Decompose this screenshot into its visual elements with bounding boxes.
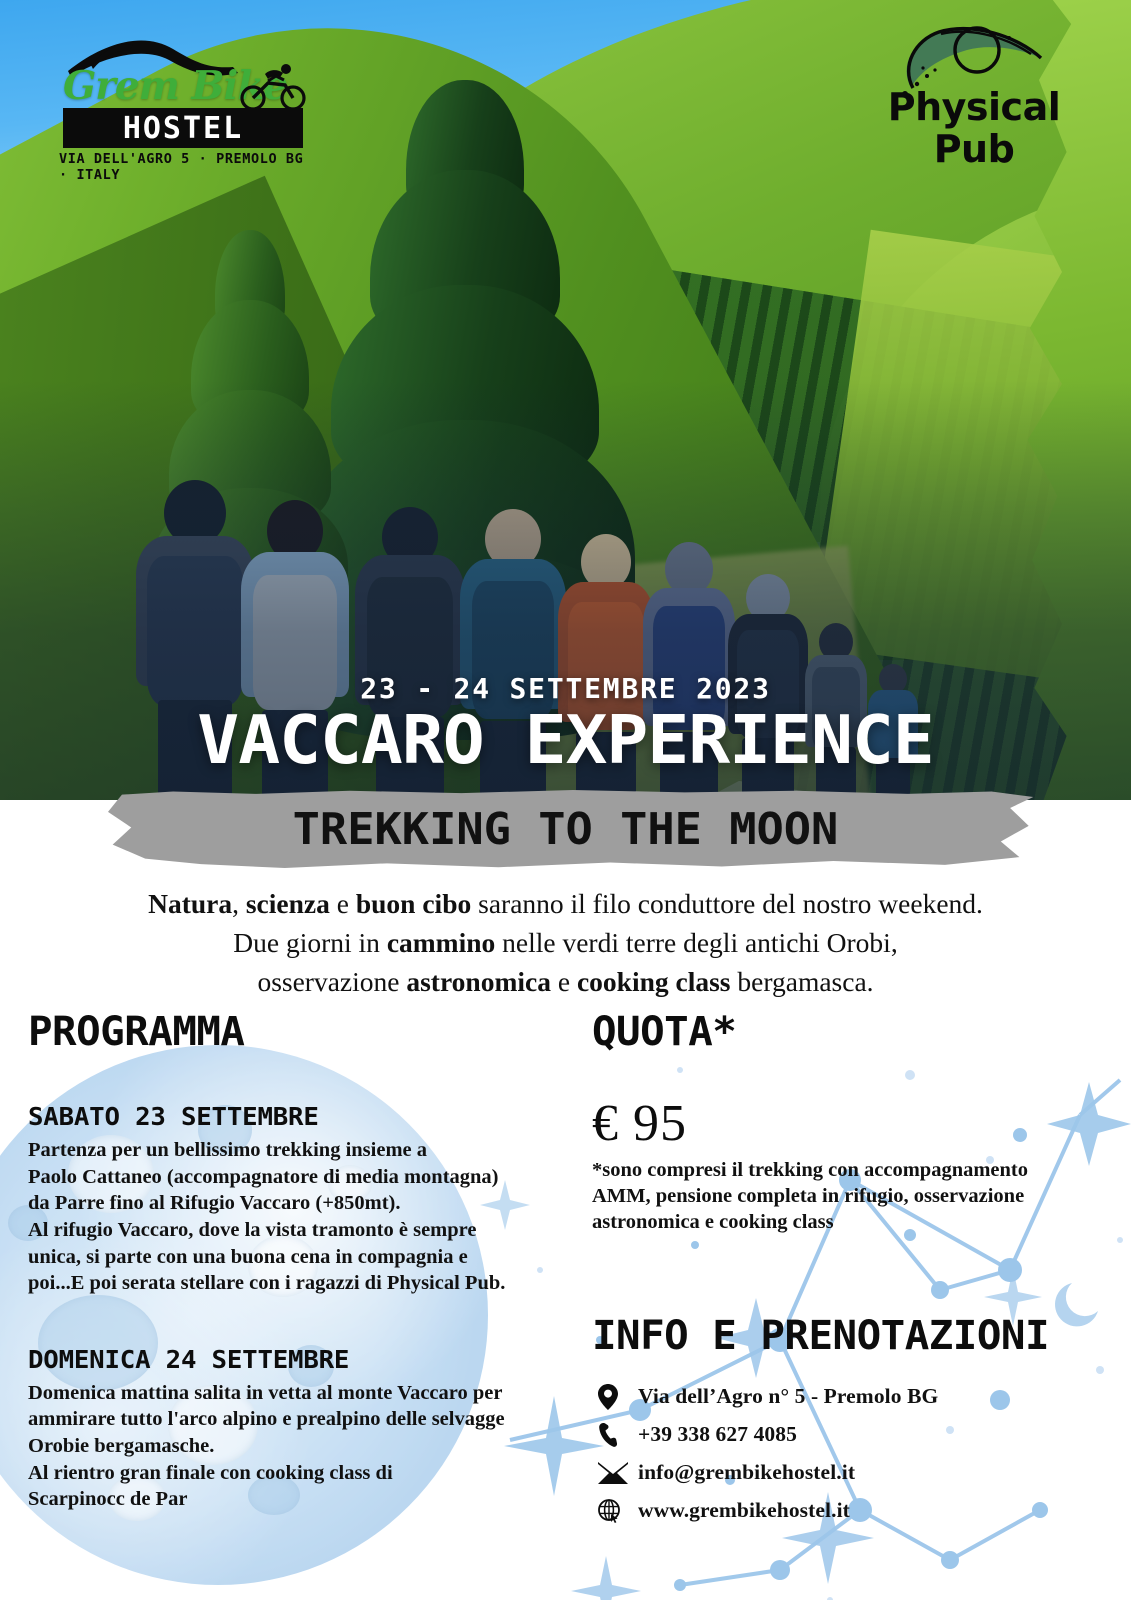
- price-note: *sono compresi il trekking con accompagn…: [592, 1157, 1102, 1236]
- info-block: INFO E PRENOTAZIONI Via dell’Agro n° 5 -…: [592, 1316, 1102, 1530]
- contact-row-phone: +39 338 627 4085: [592, 1416, 1102, 1454]
- intro-bold-buoncibo: buon cibo: [356, 888, 471, 919]
- programma-heading: PROGRAMMA: [28, 1012, 558, 1052]
- logo-address: VIA DELL'AGRO 5 · PREMOLO BG · ITALY: [59, 151, 308, 183]
- day-block-sunday: DOMENICA 24 SETTEMBRE Domenica mattina s…: [28, 1345, 548, 1513]
- quota-heading: QUOTA*: [592, 1012, 1112, 1052]
- contact-website-text[interactable]: www.grembikehostel.it: [638, 1498, 850, 1523]
- physical-pub-logo: Physical Pub: [869, 22, 1079, 162]
- intro-head-2: Due giorni in: [233, 927, 387, 958]
- intro-sep-3: e: [551, 966, 577, 997]
- intro-tail-3: bergamasca.: [731, 966, 874, 997]
- intro-head-3: osservazione: [257, 966, 406, 997]
- cyclist-icon: [238, 59, 308, 111]
- intro-bold-cookingclass: cooking class: [577, 966, 731, 997]
- intro-sep-2: e: [330, 888, 356, 919]
- contact-row-website: www.grembikehostel.it: [592, 1492, 1102, 1530]
- envelope-icon: [592, 1462, 638, 1484]
- contact-email-text[interactable]: info@grembikehostel.it: [638, 1460, 855, 1485]
- contact-address-text[interactable]: Via dell’Agro n° 5 - Premolo BG: [638, 1384, 938, 1409]
- intro-paragraph: Natura, scienza e buon cibo saranno il f…: [50, 884, 1081, 1001]
- quota-info-column: QUOTA* € 95 *sono compresi il trekking c…: [592, 1012, 1102, 1530]
- contact-phone-text[interactable]: +39 338 627 4085: [638, 1422, 797, 1447]
- contact-row-address: Via dell’Agro n° 5 - Premolo BG: [592, 1378, 1102, 1416]
- day-body-saturday: Partenza per un bellissimo trekking insi…: [28, 1137, 548, 1297]
- poster-root: 23 - 24 SETTEMBRE 2023 VACCARO EXPERIENC…: [0, 0, 1131, 1600]
- contact-row-email: info@grembikehostel.it: [592, 1454, 1102, 1492]
- grem-bike-hostel-logo: Grem Bike HOSTEL VIA DELL'AGRO 5 · PREMO…: [33, 25, 308, 150]
- intro-bold-natura: Natura: [148, 888, 232, 919]
- event-subtitle: TREKKING TO THE MOON: [0, 804, 1131, 855]
- hostel-label: HOSTEL: [123, 111, 243, 146]
- price-block: € 95 *sono compresi il trekking con acco…: [592, 1094, 1102, 1236]
- intro-line-1: Natura, scienza e buon cibo saranno il f…: [50, 884, 1081, 923]
- globe-icon: [592, 1499, 638, 1523]
- contact-list: Via dell’Agro n° 5 - Premolo BG +39 338 …: [592, 1378, 1102, 1530]
- price-amount: € 95: [592, 1094, 1102, 1153]
- event-title: VACCARO EXPERIENCE: [0, 707, 1131, 774]
- intro-line-3: osservazione astronomica e cooking class…: [50, 962, 1081, 1001]
- day-title-sunday: DOMENICA 24 SETTEMBRE: [28, 1345, 564, 1374]
- physical-pub-line2: Pub: [869, 130, 1079, 168]
- programma-column: PROGRAMMA SABATO 23 SETTEMBRE Partenza p…: [28, 1012, 548, 1513]
- location-pin-icon: [592, 1384, 638, 1410]
- hostel-bar: HOSTEL: [63, 108, 303, 148]
- intro-line-2: Due giorni in cammino nelle verdi terre …: [50, 923, 1081, 962]
- info-heading: INFO E PRENOTAZIONI: [592, 1316, 1112, 1356]
- phone-icon: [592, 1422, 638, 1448]
- intro-tail-1: saranno il filo conduttore del nostro we…: [471, 888, 983, 919]
- day-body-sunday: Domenica mattina salita in vetta al mont…: [28, 1380, 548, 1513]
- intro-bold-astronomica: astronomica: [406, 966, 551, 997]
- comet-moon-icon: [881, 22, 1061, 102]
- day-title-saturday: SABATO 23 SETTEMBRE: [28, 1102, 564, 1131]
- intro-bold-scienza: scienza: [246, 888, 330, 919]
- day-block-saturday: SABATO 23 SETTEMBRE Partenza per un bell…: [28, 1102, 548, 1297]
- intro-tail-2: nelle verdi terre degli antichi Orobi,: [495, 927, 897, 958]
- intro-bold-cammino: cammino: [387, 927, 495, 958]
- intro-sep-1: ,: [232, 888, 246, 919]
